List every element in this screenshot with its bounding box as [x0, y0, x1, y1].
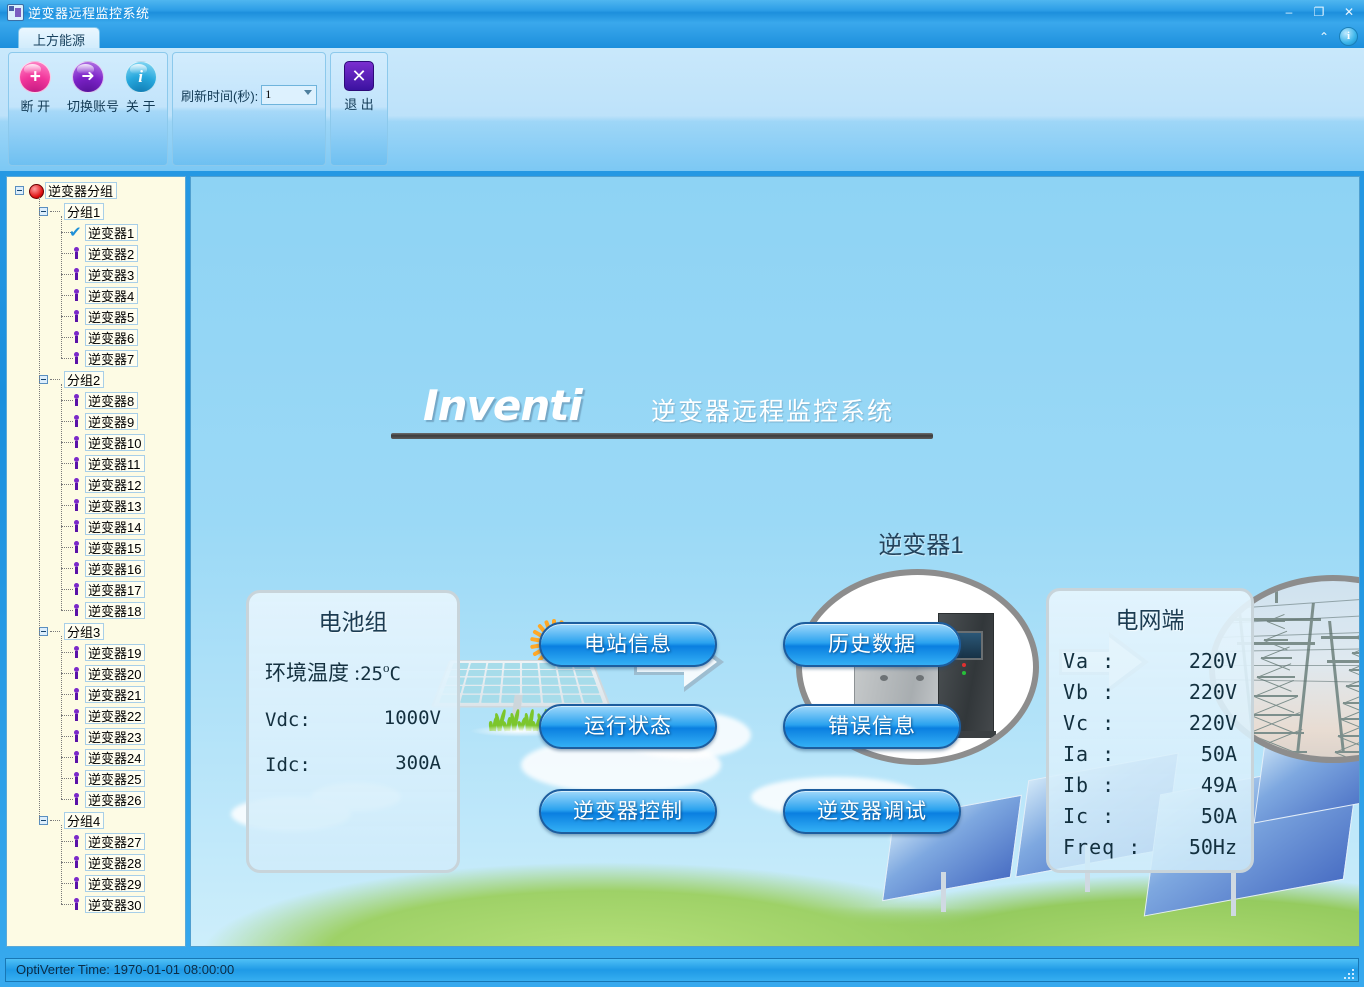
tree-group-label: 分组4: [64, 812, 104, 829]
about-label: 关 于: [120, 96, 162, 115]
vdc-value: 1000V: [384, 707, 441, 729]
tree-item-label: 逆变器14: [85, 518, 145, 535]
switch-account-label: 切换账号: [67, 96, 109, 115]
close-button[interactable]: ✕: [1338, 2, 1360, 20]
tree-group[interactable]: 分组1: [7, 201, 185, 222]
selected-check-icon: ✔: [69, 223, 82, 241]
inverter-pin-icon: [71, 646, 82, 659]
maximize-icon: ❐: [1308, 6, 1330, 18]
tree-item[interactable]: 逆变器17: [7, 579, 185, 600]
about-button[interactable]: i 关 于: [120, 61, 162, 115]
grid-measure-value: 50A: [1201, 804, 1237, 828]
tree-item[interactable]: 逆变器12: [7, 474, 185, 495]
battery-panel: 电池组 环境温度 :25oC Vdc: 1000V Idc: 300A: [246, 590, 460, 873]
tree-item-label: 逆变器25: [85, 770, 145, 787]
inverter-pin-icon: [71, 772, 82, 785]
ribbon: 上方能源 ⌃ i + 断 开 ➜ 切换账号: [0, 23, 1364, 171]
brand-subtitle: 逆变器远程监控系统: [651, 392, 894, 428]
tree-root-label: 逆变器分组: [45, 182, 117, 199]
tree-item-label: 逆变器24: [85, 749, 145, 766]
tree-item-label: 逆变器23: [85, 728, 145, 745]
tree-item-label: 逆变器6: [85, 329, 138, 346]
tree-item-label: 逆变器27: [85, 833, 145, 850]
inverter-pin-icon: [71, 541, 82, 554]
inverter-pin-icon: [71, 520, 82, 533]
tree-item-label: 逆变器15: [85, 539, 145, 556]
refresh-interval-value: 1: [265, 87, 271, 101]
tree-item[interactable]: 逆变器11: [7, 453, 185, 474]
tree-item[interactable]: 逆变器13: [7, 495, 185, 516]
temperature-unit: C: [389, 663, 400, 685]
solar-array-leg: [1231, 872, 1236, 916]
arrow-orb-icon: ➜: [72, 61, 104, 93]
info-orb-icon: i: [125, 61, 157, 93]
tree-item[interactable]: 逆变器19: [7, 642, 185, 663]
status-time-text: OptiVerter Time: 1970-01-01 08:00:00: [16, 962, 234, 977]
tree-item[interactable]: 逆变器7: [7, 348, 185, 369]
vdc-row: Vdc: 1000V: [265, 707, 457, 732]
refresh-interval-select[interactable]: 1: [261, 85, 317, 105]
tree-item[interactable]: 逆变器18: [7, 600, 185, 621]
refresh-interval-label: 刷新时间(秒):: [181, 86, 258, 105]
tree-item-label: 逆变器18: [85, 602, 145, 619]
station-info-button[interactable]: 电站信息: [539, 622, 717, 667]
tree-item-label: 逆变器16: [85, 560, 145, 577]
tree-item[interactable]: 逆变器14: [7, 516, 185, 537]
idc-value: 300A: [395, 752, 441, 774]
tree-item-label: 逆变器12: [85, 476, 145, 493]
main-panel: Inventi 逆变器远程监控系统 逆变器1 Inventi: [190, 176, 1360, 947]
inverter-pin-icon: [71, 394, 82, 407]
tree-item[interactable]: 逆变器9: [7, 411, 185, 432]
grid-measure-row: Ia :50A: [1049, 742, 1251, 766]
inverter-tree[interactable]: 逆变器分组分组1✔逆变器1逆变器2逆变器3逆变器4逆变器5逆变器6逆变器7分组2…: [6, 176, 186, 947]
tree-item-label: 逆变器28: [85, 854, 145, 871]
inverter-pin-icon: [71, 478, 82, 491]
tree-item[interactable]: 逆变器23: [7, 726, 185, 747]
tree-item[interactable]: 逆变器26: [7, 789, 185, 810]
tree-item-label: 逆变器11: [85, 455, 145, 472]
tree-item[interactable]: 逆变器10: [7, 432, 185, 453]
battery-panel-title: 电池组: [249, 603, 457, 637]
plus-orb-icon: +: [19, 61, 51, 93]
grid-measure-label: Ib :: [1063, 773, 1115, 797]
inverter-pin-icon: [71, 457, 82, 470]
tree-item-label: 逆变器21: [85, 686, 145, 703]
grid-measure-value: 220V: [1189, 680, 1237, 704]
inverter-pin-icon: [71, 289, 82, 302]
tree-item[interactable]: 逆变器20: [7, 663, 185, 684]
inverter-pin-icon: [71, 268, 82, 281]
grid-measure-label: Vc :: [1063, 711, 1115, 735]
resize-grip[interactable]: [1340, 965, 1354, 979]
inverter-pin-icon: [71, 856, 82, 869]
ribbon-group-refresh: 刷新时间(秒): 1: [172, 52, 326, 166]
info-icon[interactable]: i: [1339, 27, 1358, 46]
tree-item-label: 逆变器3: [85, 266, 138, 283]
tree-item-label: 逆变器22: [85, 707, 145, 724]
tree-item-label: 逆变器13: [85, 497, 145, 514]
run-status-button[interactable]: 运行状态: [539, 704, 717, 749]
tree-item[interactable]: 逆变器22: [7, 705, 185, 726]
inverter-pin-icon: [71, 877, 82, 890]
grid-measure-value: 50A: [1201, 742, 1237, 766]
tree-item-label: 逆变器5: [85, 308, 138, 325]
tree-item-label: 逆变器30: [85, 896, 145, 913]
grid-measure-label: Ia :: [1063, 742, 1115, 766]
grid-measure-row: Ic :50A: [1049, 804, 1251, 828]
minimize-button[interactable]: –: [1278, 2, 1300, 20]
grid-measure-value: 49A: [1201, 773, 1237, 797]
inverter-pin-icon: [71, 751, 82, 764]
ambient-temperature-row: 环境温度 :25oC: [265, 657, 457, 687]
expander-icon[interactable]: [39, 207, 48, 216]
grid-measure-row: Va :220V: [1049, 649, 1251, 673]
inverter-pin-icon: [71, 730, 82, 743]
tree-group[interactable]: 分组4: [7, 810, 185, 831]
history-data-button[interactable]: 历史数据: [783, 622, 961, 667]
grid-measure-row: Ib :49A: [1049, 773, 1251, 797]
tree-item[interactable]: 逆变器25: [7, 768, 185, 789]
solar-array-leg: [941, 872, 946, 912]
grid-measure-value: 220V: [1189, 711, 1237, 735]
tree-group-label: 分组3: [64, 623, 104, 640]
inverter-pin-icon: [71, 835, 82, 848]
window-controls: – ❐ ✕: [1278, 2, 1360, 20]
inverter-pin-icon: [71, 667, 82, 680]
tree-group-label: 分组2: [64, 371, 104, 388]
tree-item-label: 逆变器29: [85, 875, 145, 892]
tree-item[interactable]: 逆变器5: [7, 306, 185, 327]
tree-item-label: 逆变器19: [85, 644, 145, 661]
brand-logo: Inventi: [423, 381, 582, 430]
grid-measure-row: Vc :220V: [1049, 711, 1251, 735]
inverter-pin-icon: [71, 436, 82, 449]
tree-item[interactable]: 逆变器29: [7, 873, 185, 894]
minimize-icon: –: [1278, 6, 1300, 18]
inverter-pin-icon: [71, 898, 82, 911]
switch-account-button[interactable]: ➜ 切换账号: [67, 61, 109, 115]
close-x-icon: ✕: [344, 61, 374, 91]
tree-item-label: 逆变器26: [85, 791, 145, 808]
tree-item-label: 逆变器2: [85, 245, 138, 262]
error-info-button[interactable]: 错误信息: [783, 704, 961, 749]
grid-panel-title: 电网端: [1049, 601, 1251, 635]
expander-icon[interactable]: [39, 627, 48, 636]
inverter-pin-icon: [71, 499, 82, 512]
tree-item[interactable]: 逆变器16: [7, 558, 185, 579]
ambient-temperature-value: 25: [360, 663, 383, 685]
application-window: 逆变器远程监控系统 – ❐ ✕ 上方能源 ⌃ i + 断 开: [0, 0, 1364, 987]
tree-item[interactable]: ✔逆变器1: [7, 222, 185, 243]
grid-measure-value: 220V: [1189, 649, 1237, 673]
grid-measure-value: 50Hz: [1189, 835, 1237, 859]
tree-item[interactable]: 逆变器8: [7, 390, 185, 411]
grid-panel: 电网端 Va :220VVb :220VVc :220VIa :50AIb :4…: [1046, 588, 1254, 873]
inverter-pin-icon: [71, 793, 82, 806]
expander-icon[interactable]: [39, 816, 48, 825]
tree-item-label: 逆变器4: [85, 287, 138, 304]
ribbon-group-exit: ✕ 退 出: [330, 52, 388, 166]
expander-icon[interactable]: [15, 186, 24, 195]
tree-item-label: 逆变器10: [85, 434, 145, 451]
red-sphere-icon: [29, 184, 44, 199]
grid-measure-label: Vb :: [1063, 680, 1115, 704]
tree-item[interactable]: 逆变器6: [7, 327, 185, 348]
tree-item-label: 逆变器1: [85, 224, 138, 241]
tree-item[interactable]: 逆变器24: [7, 747, 185, 768]
tree-item-label: 逆变器17: [85, 581, 145, 598]
ribbon-tab-strip: 上方能源 ⌃ i: [0, 23, 1364, 48]
vdc-label: Vdc:: [265, 709, 311, 731]
disconnect-button[interactable]: + 断 开: [14, 61, 56, 115]
exit-label: 退 出: [331, 94, 387, 113]
tree-item[interactable]: 逆变器28: [7, 852, 185, 873]
inverter-debug-button[interactable]: 逆变器调试: [783, 789, 961, 834]
ribbon-group-actions: + 断 开 ➜ 切换账号 i 关 于: [8, 52, 168, 166]
inverter-pin-icon: [71, 583, 82, 596]
inverter-pin-icon: [71, 604, 82, 617]
inverter-pin-icon: [71, 562, 82, 575]
tree-item[interactable]: 逆变器15: [7, 537, 185, 558]
inverter-pin-icon: [71, 688, 82, 701]
idc-label: Idc:: [265, 754, 311, 776]
tree-host: 逆变器分组分组1✔逆变器1逆变器2逆变器3逆变器4逆变器5逆变器6逆变器7分组2…: [7, 177, 185, 921]
tree-item[interactable]: 逆变器27: [7, 831, 185, 852]
ambient-temperature-label: 环境温度 :: [265, 661, 360, 685]
window-title: 逆变器远程监控系统: [28, 3, 150, 22]
inverter-pin-icon: [71, 331, 82, 344]
transmission-tower: [1245, 603, 1307, 753]
tree-item-label: 逆变器7: [85, 350, 138, 367]
expander-icon[interactable]: [39, 375, 48, 384]
header-divider: [391, 433, 933, 439]
tree-group[interactable]: 分组2: [7, 369, 185, 390]
tree-group-label: 分组1: [64, 203, 104, 220]
selected-inverter-title: 逆变器1: [791, 525, 1051, 560]
inverter-pin-icon: [71, 352, 82, 365]
grid-measure-label: Va :: [1063, 649, 1115, 673]
chevron-down-icon: [304, 90, 312, 95]
disconnect-label: 断 开: [14, 96, 56, 115]
chevron-up-icon[interactable]: ⌃: [1319, 30, 1329, 44]
tree-item[interactable]: 逆变器4: [7, 285, 185, 306]
inverter-pin-icon: [71, 709, 82, 722]
inverter-control-button[interactable]: 逆变器控制: [539, 789, 717, 834]
tree-root[interactable]: 逆变器分组: [7, 180, 185, 201]
inverter-pin-icon: [71, 310, 82, 323]
inverter-pin-icon: [71, 247, 82, 260]
grid-measure-row: Vb :220V: [1049, 680, 1251, 704]
tree-group[interactable]: 分组3: [7, 621, 185, 642]
app-icon: [7, 4, 24, 21]
ribbon-right-controls: ⌃ i: [1319, 27, 1358, 46]
close-icon: ✕: [1338, 6, 1360, 18]
tree-item[interactable]: 逆变器30: [7, 894, 185, 915]
title-bar: 逆变器远程监控系统 – ❐ ✕: [0, 0, 1364, 24]
tree-item[interactable]: 逆变器3: [7, 264, 185, 285]
grid-measure-row: Freq :50Hz: [1049, 835, 1251, 859]
tree-item[interactable]: 逆变器2: [7, 243, 185, 264]
inverter-pin-icon: [71, 415, 82, 428]
exit-button[interactable]: ✕ 退 出: [331, 61, 387, 113]
transmission-tower: [1335, 621, 1360, 753]
ribbon-body: + 断 开 ➜ 切换账号 i 关 于 刷新时间(秒):: [0, 48, 1364, 171]
maximize-button[interactable]: ❐: [1308, 2, 1330, 20]
tree-item-label: 逆变器8: [85, 392, 138, 409]
grid-measurements: Va :220VVb :220VVc :220VIa :50AIb :49AIc…: [1049, 649, 1251, 859]
idc-row: Idc: 300A: [265, 752, 457, 777]
grid-measure-label: Ic :: [1063, 804, 1115, 828]
grid-measure-label: Freq :: [1063, 835, 1141, 859]
tree-item[interactable]: 逆变器21: [7, 684, 185, 705]
tree-item-label: 逆变器9: [85, 413, 138, 430]
status-bar: OptiVerter Time: 1970-01-01 08:00:00: [5, 958, 1359, 982]
tree-item-label: 逆变器20: [85, 665, 145, 682]
